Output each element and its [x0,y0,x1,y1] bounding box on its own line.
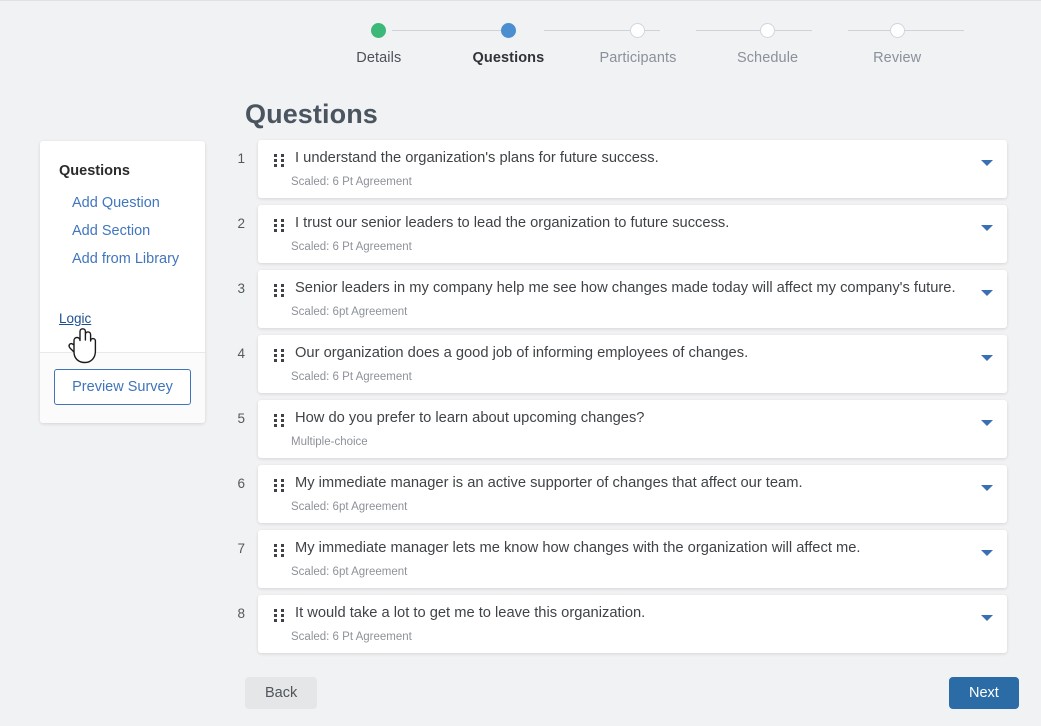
drag-handle-icon[interactable] [274,219,285,233]
sidebar-link-add-section[interactable]: Add Section [40,217,205,245]
drag-handle-icon[interactable] [274,349,285,363]
question-text: Senior leaders in my company help me see… [295,280,973,296]
question-text-wrap: I trust our senior leaders to lead the o… [295,215,973,231]
question-text: Our organization does a good job of info… [295,345,973,361]
question-row: 4Our organization does a good job of inf… [225,335,1007,393]
question-type-holder: Scaled: 6 Pt Agreement [274,234,412,253]
sidebar-body: Questions Add QuestionAdd SectionAdd fro… [40,141,205,352]
question-card[interactable]: My immediate manager lets me know how ch… [258,530,1007,588]
question-card[interactable]: It would take a lot to get me to leave t… [258,595,1007,653]
back-button[interactable]: Back [245,677,317,709]
chevron-down-icon[interactable] [981,290,993,296]
stepper-step-label: Details [356,50,401,66]
question-text: It would take a lot to get me to leave t… [295,605,973,621]
stepper-dot-icon [760,23,775,38]
drag-handle-icon[interactable] [274,609,285,623]
question-text: My immediate manager is an active suppor… [295,475,973,491]
question-number: 1 [225,140,245,166]
sidebar-link-add-question[interactable]: Add Question [40,189,205,217]
question-number: 2 [225,205,245,231]
stepper-step-schedule[interactable]: Schedule [703,23,833,66]
question-card[interactable]: I trust our senior leaders to lead the o… [258,205,1007,263]
next-button[interactable]: Next [949,677,1019,709]
question-list: 1I understand the organization's plans f… [225,140,1007,660]
question-number: 5 [225,400,245,426]
stepper-dot-icon [630,23,645,38]
question-text: My immediate manager lets me know how ch… [295,540,973,556]
question-row: 2I trust our senior leaders to lead the … [225,205,1007,263]
question-type-holder: Multiple-choice [274,429,368,448]
sidebar-link-add-from-library[interactable]: Add from Library [40,245,205,273]
stepper-step-label: Schedule [737,50,798,66]
question-text: I understand the organization's plans fo… [295,150,973,166]
stepper-step-label: Participants [600,50,677,66]
questions-sidebar-panel: Questions Add QuestionAdd SectionAdd fro… [40,141,205,423]
question-text-wrap: My immediate manager is an active suppor… [295,475,973,491]
question-type-label: Scaled: 6pt Agreement [274,306,407,318]
chevron-down-icon[interactable] [981,615,993,621]
sidebar-logic-wrap: Logic [40,273,205,332]
sidebar-footer: Preview Survey [40,352,205,423]
question-type-holder: Scaled: 6pt Agreement [274,559,407,578]
chevron-down-icon[interactable] [981,355,993,361]
stepper-step-label: Questions [472,50,544,66]
question-row: 6My immediate manager is an active suppo… [225,465,1007,523]
stepper-step-details[interactable]: Details [314,23,444,66]
question-card[interactable]: Our organization does a good job of info… [258,335,1007,393]
progress-stepper: DetailsQuestionsParticipantsScheduleRevi… [268,23,1008,79]
stepper-step-participants[interactable]: Participants [573,23,703,66]
stepper-step-review[interactable]: Review [832,23,962,66]
sidebar-link-logic[interactable]: Logic [59,311,91,326]
question-number: 3 [225,270,245,296]
question-number: 7 [225,530,245,556]
stepper-step-label: Review [873,50,921,66]
chevron-down-icon[interactable] [981,550,993,556]
drag-handle-icon[interactable] [274,414,285,428]
question-row: 5How do you prefer to learn about upcomi… [225,400,1007,458]
drag-handle-icon[interactable] [274,544,285,558]
question-text-wrap: Senior leaders in my company help me see… [295,280,973,296]
question-card[interactable]: Senior leaders in my company help me see… [258,270,1007,328]
question-text: How do you prefer to learn about upcomin… [295,410,973,426]
question-text-wrap: I understand the organization's plans fo… [295,150,973,166]
stepper-dot-icon [890,23,905,38]
drag-handle-icon[interactable] [274,479,285,493]
chevron-down-icon[interactable] [981,225,993,231]
drag-handle-icon[interactable] [274,284,285,298]
question-row: 8It would take a lot to get me to leave … [225,595,1007,653]
question-type-holder: Scaled: 6 Pt Agreement [274,364,412,383]
page-title: Questions [245,99,378,130]
stepper-dot-icon [371,23,386,38]
question-number: 6 [225,465,245,491]
chevron-down-icon[interactable] [981,160,993,166]
stepper-dot-icon [501,23,516,38]
question-row: 7My immediate manager lets me know how c… [225,530,1007,588]
question-type-label: Scaled: 6pt Agreement [274,566,407,578]
question-card[interactable]: My immediate manager is an active suppor… [258,465,1007,523]
drag-handle-icon[interactable] [274,154,285,168]
question-type-holder: Scaled: 6 Pt Agreement [274,624,412,643]
question-type-label: Multiple-choice [274,436,368,448]
question-type-holder: Scaled: 6 Pt Agreement [274,169,412,188]
question-text-wrap: It would take a lot to get me to leave t… [295,605,973,621]
chevron-down-icon[interactable] [981,485,993,491]
chevron-down-icon[interactable] [981,420,993,426]
question-text-wrap: Our organization does a good job of info… [295,345,973,361]
question-row: 1I understand the organization's plans f… [225,140,1007,198]
stepper-step-questions[interactable]: Questions [444,23,574,66]
stepper-track: DetailsQuestionsParticipantsScheduleRevi… [268,23,1008,66]
question-text: I trust our senior leaders to lead the o… [295,215,973,231]
preview-survey-button[interactable]: Preview Survey [54,369,191,405]
question-text-wrap: How do you prefer to learn about upcomin… [295,410,973,426]
question-type-holder: Scaled: 6pt Agreement [274,494,407,513]
question-text-wrap: My immediate manager lets me know how ch… [295,540,973,556]
sidebar-link-list: Add QuestionAdd SectionAdd from Library [40,189,205,273]
sidebar-heading: Questions [40,163,205,189]
question-number: 8 [225,595,245,621]
question-number: 4 [225,335,245,361]
question-row: 3Senior leaders in my company help me se… [225,270,1007,328]
question-card[interactable]: I understand the organization's plans fo… [258,140,1007,198]
question-type-label: Scaled: 6 Pt Agreement [274,631,412,643]
question-type-label: Scaled: 6 Pt Agreement [274,371,412,383]
question-card[interactable]: How do you prefer to learn about upcomin… [258,400,1007,458]
question-type-holder: Scaled: 6pt Agreement [274,299,407,318]
question-type-label: Scaled: 6 Pt Agreement [274,176,412,188]
question-type-label: Scaled: 6pt Agreement [274,501,407,513]
question-type-label: Scaled: 6 Pt Agreement [274,241,412,253]
